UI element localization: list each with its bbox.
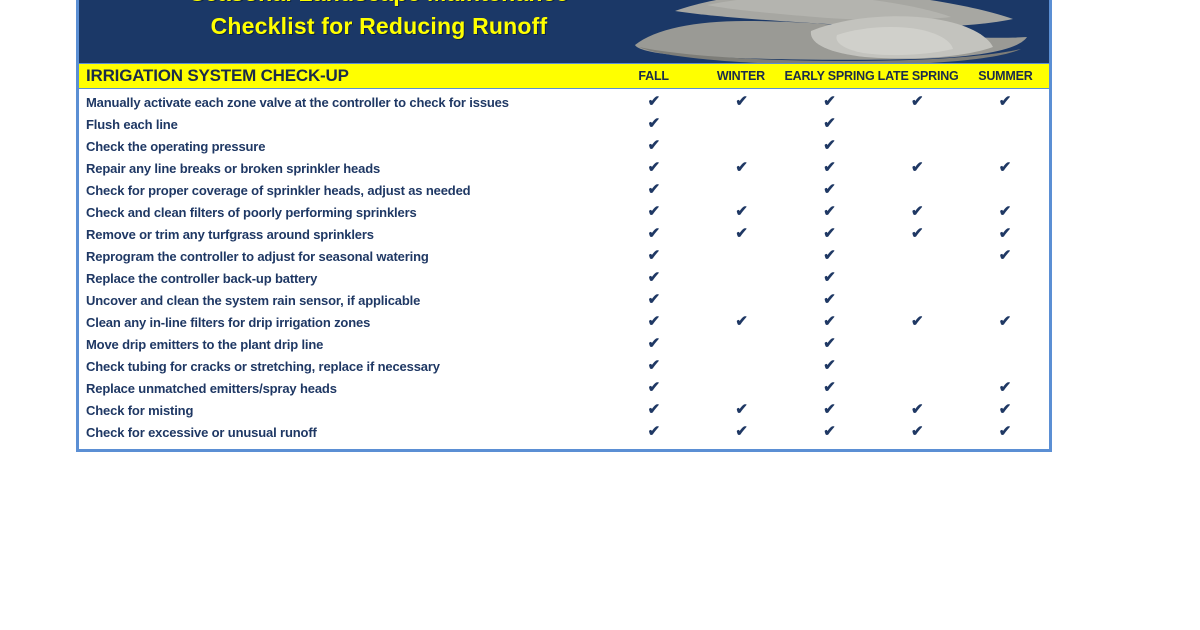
check-icon[interactable]: ✔ bbox=[786, 113, 874, 135]
check-icon[interactable]: ✔ bbox=[786, 355, 874, 377]
check-icon[interactable]: ✔ bbox=[698, 421, 786, 443]
check-icon[interactable]: ✔ bbox=[786, 267, 874, 289]
task-label: Clean any in-line filters for drip irrig… bbox=[79, 315, 610, 330]
check-icon[interactable]: ✔ bbox=[873, 91, 961, 113]
grass-on-rocks-illustration bbox=[615, 0, 1045, 63]
check-icon[interactable]: ✔ bbox=[786, 311, 874, 333]
table-row: Manually activate each zone valve at the… bbox=[79, 91, 1049, 113]
task-label: Replace unmatched emitters/spray heads bbox=[79, 381, 610, 396]
task-label: Check for excessive or unusual runoff bbox=[79, 425, 610, 440]
rocks-icon bbox=[635, 0, 1027, 63]
check-icon[interactable]: ✔ bbox=[961, 157, 1049, 179]
check-icon[interactable]: ✔ bbox=[786, 245, 874, 267]
task-label: Repair any line breaks or broken sprinkl… bbox=[79, 161, 610, 176]
task-label: Uncover and clean the system rain sensor… bbox=[79, 293, 610, 308]
check-icon[interactable]: ✔ bbox=[873, 311, 961, 333]
check-icon[interactable]: ✔ bbox=[873, 201, 961, 223]
check-icon[interactable]: ✔ bbox=[610, 267, 698, 289]
check-icon[interactable]: ✔ bbox=[610, 399, 698, 421]
task-label: Manually activate each zone valve at the… bbox=[79, 95, 610, 110]
check-icon[interactable]: ✔ bbox=[786, 91, 874, 113]
check-icon[interactable]: ✔ bbox=[698, 311, 786, 333]
task-label: Check tubing for cracks or stretching, r… bbox=[79, 359, 610, 374]
check-icon[interactable]: ✔ bbox=[610, 355, 698, 377]
check-icon[interactable]: ✔ bbox=[610, 201, 698, 223]
task-label: Check for proper coverage of sprinkler h… bbox=[79, 183, 610, 198]
check-icon[interactable]: ✔ bbox=[786, 333, 874, 355]
checklist-banner: Seasonal Landscape Maintenance Checklist… bbox=[79, 0, 1049, 63]
check-icon[interactable]: ✔ bbox=[610, 91, 698, 113]
check-icon[interactable]: ✔ bbox=[961, 421, 1049, 443]
task-label: Reprogram the controller to adjust for s… bbox=[79, 249, 610, 264]
check-icon[interactable]: ✔ bbox=[786, 421, 874, 443]
table-row: Move drip emitters to the plant drip lin… bbox=[79, 333, 1049, 355]
column-header-late-spring: LATE SPRING bbox=[875, 69, 962, 83]
table-row: Check the operating pressure✔✔ bbox=[79, 135, 1049, 157]
check-icon[interactable]: ✔ bbox=[961, 377, 1049, 399]
table-row: Replace the controller back-up battery✔✔ bbox=[79, 267, 1049, 289]
table-row: Check for proper coverage of sprinkler h… bbox=[79, 179, 1049, 201]
check-icon[interactable]: ✔ bbox=[610, 421, 698, 443]
banner-title-line2: Checklist for Reducing Runoff bbox=[79, 10, 679, 43]
table-row: Remove or trim any turfgrass around spri… bbox=[79, 223, 1049, 245]
check-icon[interactable]: ✔ bbox=[786, 289, 874, 311]
table-row: Check for misting✔✔✔✔✔ bbox=[79, 399, 1049, 421]
check-icon[interactable]: ✔ bbox=[698, 91, 786, 113]
check-icon[interactable]: ✔ bbox=[786, 157, 874, 179]
page-canvas: Seasonal Landscape Maintenance Checklist… bbox=[0, 0, 1200, 630]
table-row: Repair any line breaks or broken sprinkl… bbox=[79, 157, 1049, 179]
check-icon[interactable]: ✔ bbox=[786, 223, 874, 245]
check-icon[interactable]: ✔ bbox=[873, 421, 961, 443]
check-icon[interactable]: ✔ bbox=[961, 399, 1049, 421]
table-row: Replace unmatched emitters/spray heads✔✔… bbox=[79, 377, 1049, 399]
banner-title: Seasonal Landscape Maintenance Checklist… bbox=[79, 0, 679, 43]
check-icon[interactable]: ✔ bbox=[786, 399, 874, 421]
task-label: Flush each line bbox=[79, 117, 610, 132]
check-icon[interactable]: ✔ bbox=[873, 399, 961, 421]
check-icon[interactable]: ✔ bbox=[961, 311, 1049, 333]
table-header-row: IRRIGATION SYSTEM CHECK-UP FALL WINTER E… bbox=[79, 63, 1049, 89]
check-icon[interactable]: ✔ bbox=[698, 223, 786, 245]
check-icon[interactable]: ✔ bbox=[873, 223, 961, 245]
check-icon[interactable]: ✔ bbox=[698, 157, 786, 179]
seasonal-maintenance-checklist-table: Seasonal Landscape Maintenance Checklist… bbox=[76, 0, 1052, 452]
check-icon[interactable]: ✔ bbox=[786, 377, 874, 399]
column-header-early-spring: EARLY SPRING bbox=[785, 69, 875, 83]
task-label: Replace the controller back-up battery bbox=[79, 271, 610, 286]
grass-on-rocks-icon bbox=[615, 0, 1045, 63]
banner-title-line1: Seasonal Landscape Maintenance bbox=[189, 0, 568, 6]
check-icon[interactable]: ✔ bbox=[698, 399, 786, 421]
column-header-winter: WINTER bbox=[697, 69, 784, 83]
table-row: Clean any in-line filters for drip irrig… bbox=[79, 311, 1049, 333]
check-icon[interactable]: ✔ bbox=[610, 245, 698, 267]
check-icon[interactable]: ✔ bbox=[610, 113, 698, 135]
task-label: Move drip emitters to the plant drip lin… bbox=[79, 337, 610, 352]
task-label: Remove or trim any turfgrass around spri… bbox=[79, 227, 610, 242]
table-row: Uncover and clean the system rain sensor… bbox=[79, 289, 1049, 311]
check-icon[interactable]: ✔ bbox=[610, 135, 698, 157]
check-icon[interactable]: ✔ bbox=[610, 377, 698, 399]
check-icon[interactable]: ✔ bbox=[873, 157, 961, 179]
task-label: Check the operating pressure bbox=[79, 139, 610, 154]
check-icon[interactable]: ✔ bbox=[786, 201, 874, 223]
table-row: Reprogram the controller to adjust for s… bbox=[79, 245, 1049, 267]
table-row: Check for excessive or unusual runoff✔✔✔… bbox=[79, 421, 1049, 443]
check-icon[interactable]: ✔ bbox=[610, 157, 698, 179]
check-icon[interactable]: ✔ bbox=[610, 289, 698, 311]
check-icon[interactable]: ✔ bbox=[786, 179, 874, 201]
column-header-summer: SUMMER bbox=[962, 69, 1049, 83]
check-icon[interactable]: ✔ bbox=[610, 333, 698, 355]
check-icon[interactable]: ✔ bbox=[610, 179, 698, 201]
task-label: Check for misting bbox=[79, 403, 610, 418]
check-icon[interactable]: ✔ bbox=[786, 135, 874, 157]
section-header-label: IRRIGATION SYSTEM CHECK-UP bbox=[79, 66, 610, 86]
checklist-rows: Manually activate each zone valve at the… bbox=[79, 89, 1049, 449]
check-icon[interactable]: ✔ bbox=[698, 201, 786, 223]
task-label: Check and clean filters of poorly perfor… bbox=[79, 205, 610, 220]
table-row: Flush each line✔✔ bbox=[79, 113, 1049, 135]
check-icon[interactable]: ✔ bbox=[961, 223, 1049, 245]
check-icon[interactable]: ✔ bbox=[961, 91, 1049, 113]
column-header-fall: FALL bbox=[610, 69, 697, 83]
check-icon[interactable]: ✔ bbox=[961, 201, 1049, 223]
table-row: Check and clean filters of poorly perfor… bbox=[79, 201, 1049, 223]
table-row: Check tubing for cracks or stretching, r… bbox=[79, 355, 1049, 377]
check-icon[interactable]: ✔ bbox=[610, 223, 698, 245]
check-icon[interactable]: ✔ bbox=[610, 311, 698, 333]
check-icon[interactable]: ✔ bbox=[961, 245, 1049, 267]
